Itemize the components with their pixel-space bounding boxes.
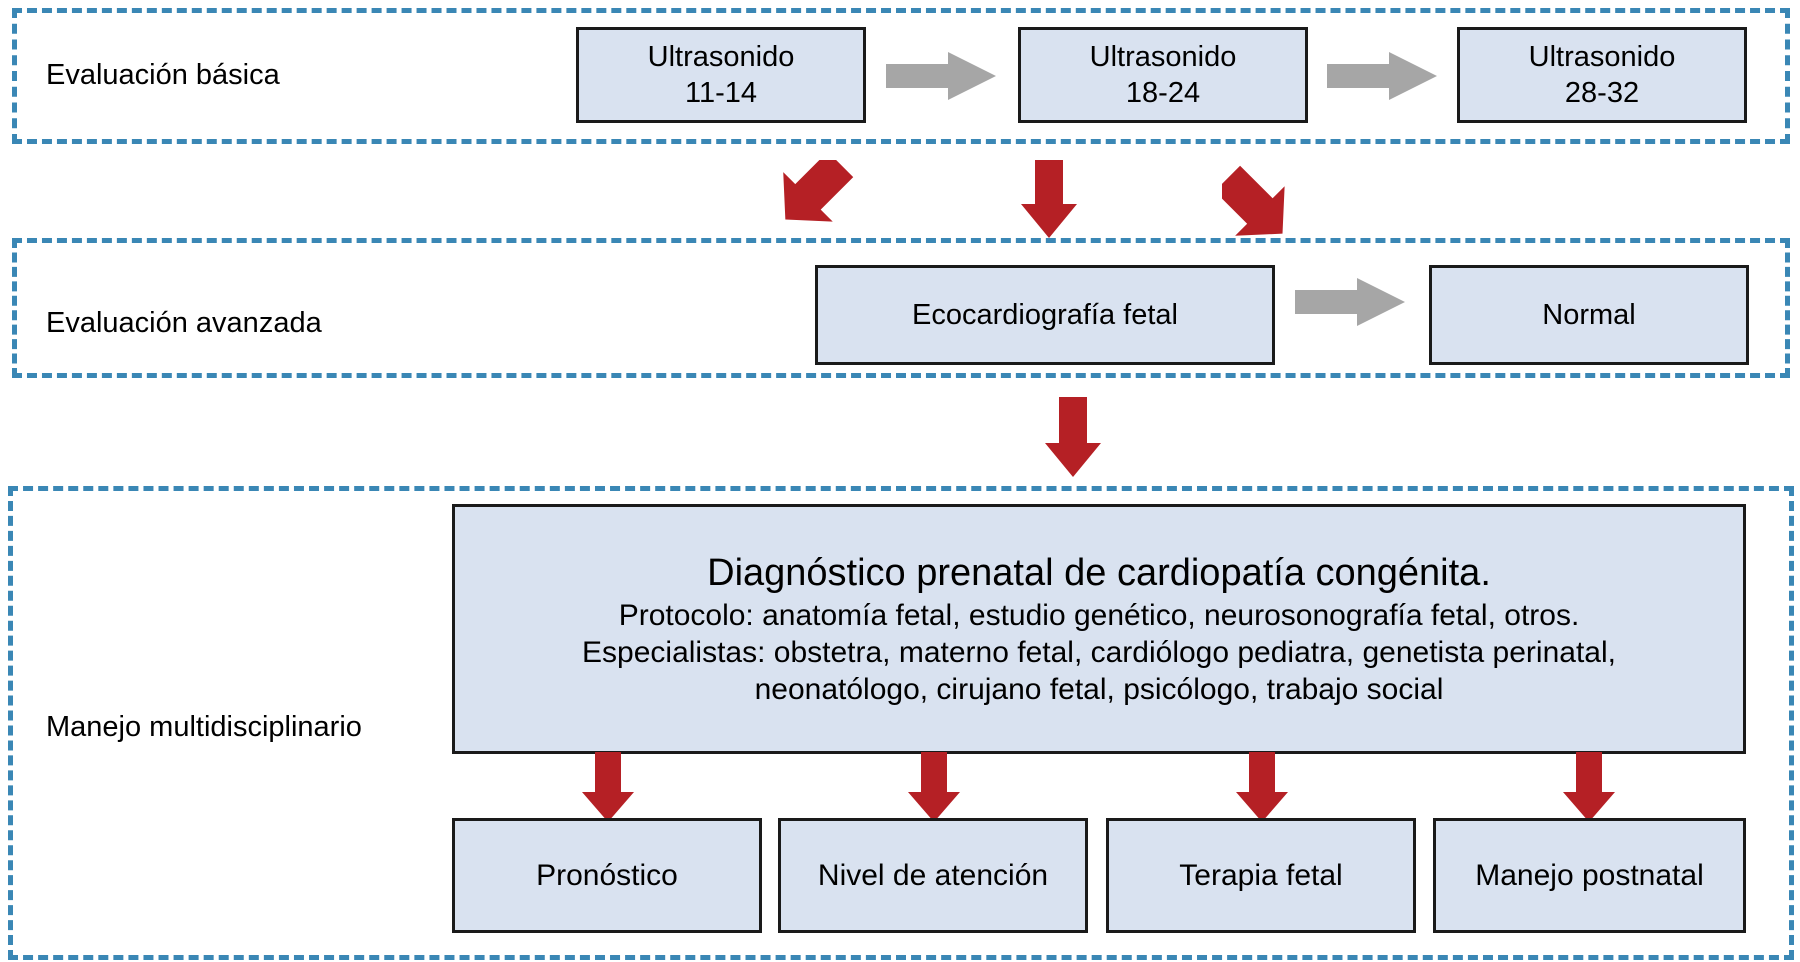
arrow-down-icon: [908, 752, 960, 822]
box-ultrasound-11-14-line1: Ultrasonido: [648, 41, 795, 73]
box-ultrasound-28-32-text: Ultrasonido 28-32: [1529, 39, 1676, 111]
arrow-right-icon: [1327, 52, 1437, 100]
box-fetal-echocardiography-label: Ecocardiografía fetal: [912, 297, 1178, 333]
section-label-multidisciplinary-management: Manejo multidisciplinario: [46, 710, 362, 744]
arrow-down-icon: [1563, 752, 1615, 822]
arrow-down-left-icon: [1222, 160, 1302, 238]
box-ultrasound-11-14-line2: 11-14: [685, 77, 757, 109]
box-ultrasound-11-14[interactable]: Ultrasonido 11-14: [576, 27, 866, 123]
box-outcome-postnatal-management-label: Manejo postnatal: [1475, 859, 1704, 893]
box-ultrasound-28-32[interactable]: Ultrasonido 28-32: [1457, 27, 1747, 123]
box-ultrasound-18-24-line1: Ultrasonido: [1090, 41, 1237, 73]
box-fetal-echocardiography[interactable]: Ecocardiografía fetal: [815, 265, 1275, 365]
section-label-advanced-evaluation: Evaluación avanzada: [46, 306, 322, 340]
box-ultrasound-18-24-line2: 18-24: [1126, 77, 1200, 109]
box-outcome-prognosis[interactable]: Pronóstico: [452, 818, 762, 933]
box-ultrasound-11-14-text: Ultrasonido 11-14: [648, 39, 795, 111]
box-ultrasound-28-32-line2: 28-32: [1565, 77, 1639, 109]
box-outcome-fetal-therapy[interactable]: Terapia fetal: [1106, 818, 1416, 933]
box-ultrasound-18-24[interactable]: Ultrasonido 18-24: [1018, 27, 1308, 123]
arrow-down-icon: [1045, 397, 1101, 477]
box-outcome-postnatal-management[interactable]: Manejo postnatal: [1433, 818, 1746, 933]
arrow-down-right-icon: [780, 160, 860, 238]
box-normal-result-label: Normal: [1542, 297, 1635, 333]
arrow-down-icon: [1021, 160, 1077, 238]
flowchart-canvas: Evaluación básica Ultrasonido 11-14 Ultr…: [0, 0, 1800, 962]
arrow-right-icon: [1295, 278, 1405, 326]
box-prenatal-diagnosis-protocol: Protocolo: anatomía fetal, estudio genét…: [619, 597, 1580, 634]
box-outcome-fetal-therapy-label: Terapia fetal: [1179, 859, 1342, 893]
box-prenatal-diagnosis-specialists-2: neonatólogo, cirujano fetal, psicólogo, …: [755, 671, 1444, 708]
box-outcome-care-level[interactable]: Nivel de atención: [778, 818, 1088, 933]
arrow-down-icon: [582, 752, 634, 822]
arrow-right-icon: [886, 52, 996, 100]
arrow-down-icon: [1236, 752, 1288, 822]
section-label-basic-evaluation: Evaluación básica: [46, 58, 280, 92]
box-ultrasound-28-32-line1: Ultrasonido: [1529, 41, 1676, 73]
box-outcome-care-level-label: Nivel de atención: [818, 859, 1048, 893]
box-prenatal-diagnosis-headline: Diagnóstico prenatal de cardiopatía cong…: [707, 550, 1491, 597]
box-normal-result[interactable]: Normal: [1429, 265, 1749, 365]
box-outcome-prognosis-label: Pronóstico: [536, 859, 678, 893]
box-prenatal-diagnosis-specialists-1: Especialistas: obstetra, materno fetal, …: [582, 634, 1616, 671]
box-ultrasound-18-24-text: Ultrasonido 18-24: [1090, 39, 1237, 111]
box-prenatal-diagnosis[interactable]: Diagnóstico prenatal de cardiopatía cong…: [452, 504, 1746, 754]
